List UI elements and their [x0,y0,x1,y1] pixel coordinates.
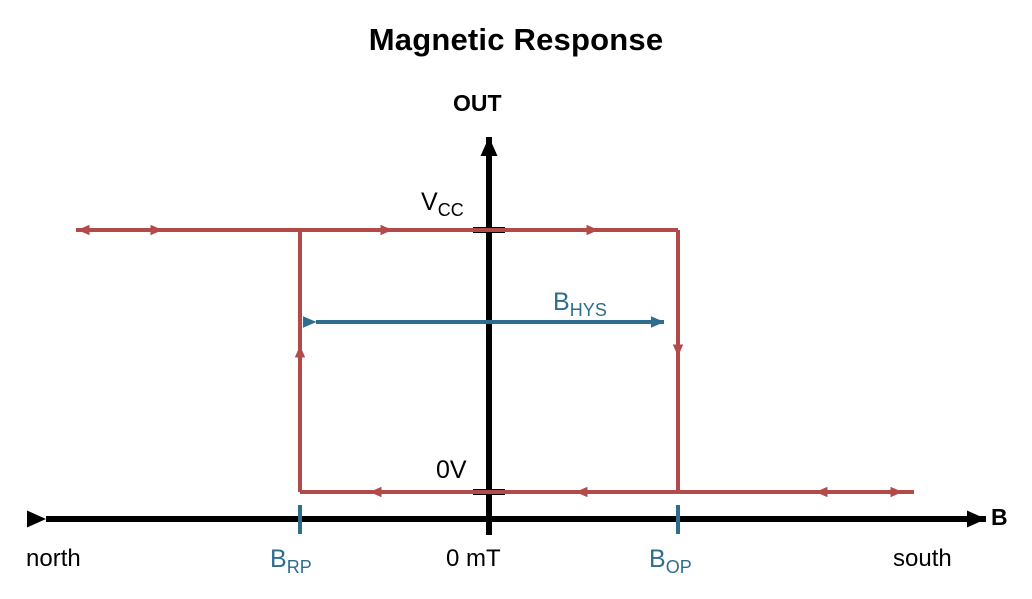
brp-subscript: RP [287,557,312,577]
bop-main: B [649,545,666,573]
x-axis-label: B [991,506,1008,529]
diagram-canvas: Magnetic Response OUT B VCC 0V north sou… [0,0,1032,599]
x-tick-label-bop: BOP [649,547,692,576]
hysteresis-curve [76,230,914,492]
x-axis-direction-north: north [26,547,81,571]
x-axis-direction-south: south [893,547,952,571]
y-tick-label-zero-volt: 0V [436,458,467,483]
magnetic-response-plot [0,0,1032,599]
bop-subscript: OP [666,557,692,577]
bhys-label: BHYS [553,290,607,319]
page-title: Magnetic Response [0,24,1032,55]
brp-main: B [270,545,287,573]
vcc-subscript: CC [438,200,464,220]
x-tick-label-brp: BRP [270,547,312,576]
y-axis-label: OUT [453,92,502,115]
x-tick-label-zero-mt: 0 mT [446,547,501,571]
bhys-subscript: HYS [570,300,607,320]
y-tick-label-vcc: VCC [421,190,464,219]
axis-group [46,137,986,535]
bhys-main: B [553,288,570,316]
vcc-main: V [421,188,438,216]
